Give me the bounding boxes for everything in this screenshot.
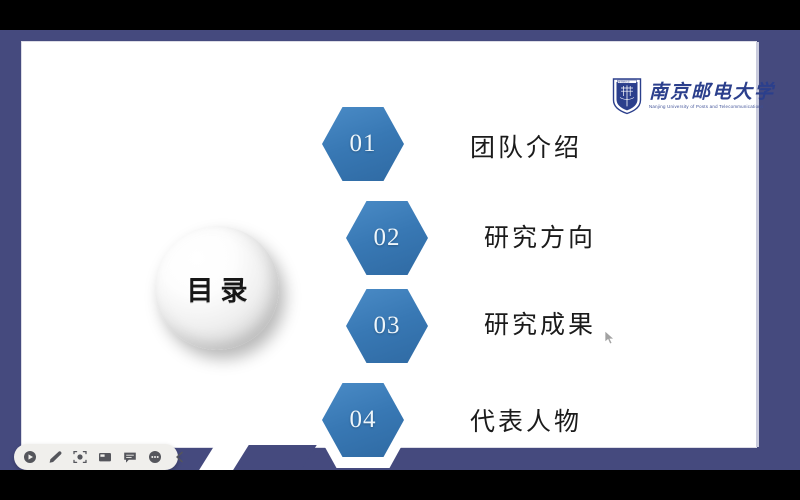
spotlight-icon[interactable]: [73, 450, 87, 464]
crest-icon: 南京邮电大学: [612, 77, 642, 115]
screen-icon[interactable]: [98, 450, 112, 464]
pen-icon[interactable]: [48, 450, 62, 464]
more-icon[interactable]: [148, 450, 162, 464]
chat-icon[interactable]: [123, 450, 137, 464]
pointer-cursor-icon: [604, 330, 616, 346]
meeting-toolbar[interactable]: [14, 444, 178, 470]
logo-text-block: 南京邮电大学 Nanjing University of Posts and T…: [649, 83, 775, 110]
agenda-number: 04: [350, 406, 377, 434]
agenda-label-03: 研究成果: [484, 305, 596, 341]
agenda-label-04: 代表人物: [470, 402, 582, 438]
agenda-label-02: 研究方向: [484, 218, 596, 254]
agenda-hexagon-inner: 03: [346, 289, 428, 363]
agenda-hexagon-inner: 01: [322, 107, 404, 181]
agenda-hexagon-inner: 02: [346, 201, 428, 275]
chevron-left-icon[interactable]: [173, 450, 187, 464]
agenda-number: 03: [374, 312, 401, 340]
shared-screen-area: 南京邮电大学 南京邮电大学 Nanjing University of Post…: [0, 30, 800, 470]
screen-share-viewport: 南京邮电大学 南京邮电大学 Nanjing University of Post…: [0, 0, 800, 500]
agenda-hexagon-inner: 04: [322, 383, 404, 457]
agenda-number: 02: [374, 224, 401, 252]
catalog-label: 目录: [180, 269, 255, 308]
logo-chinese-name: 南京邮电大学: [649, 83, 775, 103]
logo-english-name: Nanjing University of Posts and Telecomm…: [649, 104, 775, 109]
catalog-sphere: 目录: [155, 226, 279, 350]
record-icon[interactable]: [23, 450, 37, 464]
agenda-number: 01: [350, 130, 377, 158]
agenda-label-01: 团队介绍: [470, 128, 582, 164]
university-logo: 南京邮电大学 南京邮电大学 Nanjing University of Post…: [612, 74, 780, 118]
